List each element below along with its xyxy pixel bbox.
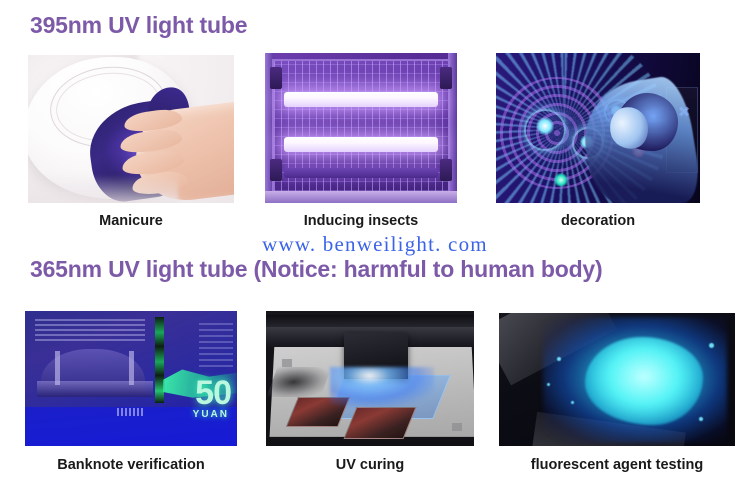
image-tile-manicure bbox=[28, 55, 234, 203]
image-tile-banknote: 50 YUAN bbox=[25, 311, 237, 446]
caption-fluorescent-agent-testing: fluorescent agent testing bbox=[499, 457, 735, 473]
insect-killer-photo bbox=[265, 53, 457, 203]
uv-tube bbox=[284, 92, 438, 107]
image-tile-uv-curing bbox=[266, 311, 474, 446]
banknote-microtext bbox=[35, 319, 145, 341]
glow-speck bbox=[571, 401, 574, 404]
section-heading-395nm: 395nm UV light tube bbox=[30, 12, 247, 39]
ink-smudge bbox=[267, 367, 332, 397]
image-tile-decoration: ✖ bbox=[496, 53, 700, 203]
section-heading-365nm: 365nm UV light tube (Notice: harmful to … bbox=[30, 256, 602, 283]
glow-speck bbox=[709, 343, 714, 348]
uv-tube-dim bbox=[284, 168, 438, 178]
manicure-photo bbox=[28, 55, 234, 203]
caption-uv-curing: UV curing bbox=[266, 457, 474, 473]
glow-speck bbox=[699, 417, 703, 421]
banknote-denomination: 50 bbox=[195, 378, 231, 408]
decoration-photo: ✖ bbox=[496, 53, 700, 203]
caption-inducing-insects: Inducing insects bbox=[265, 213, 457, 229]
banknote-serial-code bbox=[117, 408, 143, 416]
glow-dot bbox=[554, 173, 568, 187]
image-tile-inducing-insects bbox=[265, 53, 457, 203]
fluorescent-photo bbox=[499, 313, 735, 446]
glow-dot bbox=[536, 117, 554, 135]
caption-decoration: decoration bbox=[496, 213, 700, 229]
glow-speck bbox=[547, 383, 550, 386]
uv-light-applications-page: 395nm UV light tube Manicure bbox=[0, 0, 750, 494]
banknote-photo: 50 YUAN bbox=[25, 311, 237, 446]
bed-marker bbox=[282, 359, 292, 367]
caption-banknote-verification: Banknote verification bbox=[25, 457, 237, 473]
banknote-pattern-right bbox=[199, 319, 233, 367]
glow-speck bbox=[557, 357, 561, 361]
insect-killer-frame bbox=[272, 59, 450, 193]
tube-end-cap bbox=[440, 67, 452, 89]
tube-end-cap bbox=[440, 159, 452, 181]
tube-end-cap bbox=[270, 67, 282, 89]
insect-killer-base bbox=[265, 191, 457, 203]
banknote-currency-label: YUAN bbox=[193, 409, 229, 420]
banknote-bridge-tower bbox=[55, 351, 60, 385]
caption-manicure: Manicure bbox=[28, 213, 234, 229]
towel-bottom bbox=[28, 175, 178, 203]
printer-gantry-upper bbox=[266, 315, 474, 327]
site-watermark: www. benweilight. com bbox=[0, 232, 750, 257]
banknote-bridge-tower bbox=[129, 351, 134, 385]
uv-curing-photo bbox=[266, 311, 474, 446]
bed-marker bbox=[452, 423, 462, 431]
uv-tube bbox=[284, 137, 438, 152]
security-thread bbox=[155, 317, 164, 403]
uv-beam-glow bbox=[330, 367, 434, 407]
tube-end-cap bbox=[270, 159, 282, 181]
image-tile-fluorescent-testing bbox=[499, 313, 735, 446]
